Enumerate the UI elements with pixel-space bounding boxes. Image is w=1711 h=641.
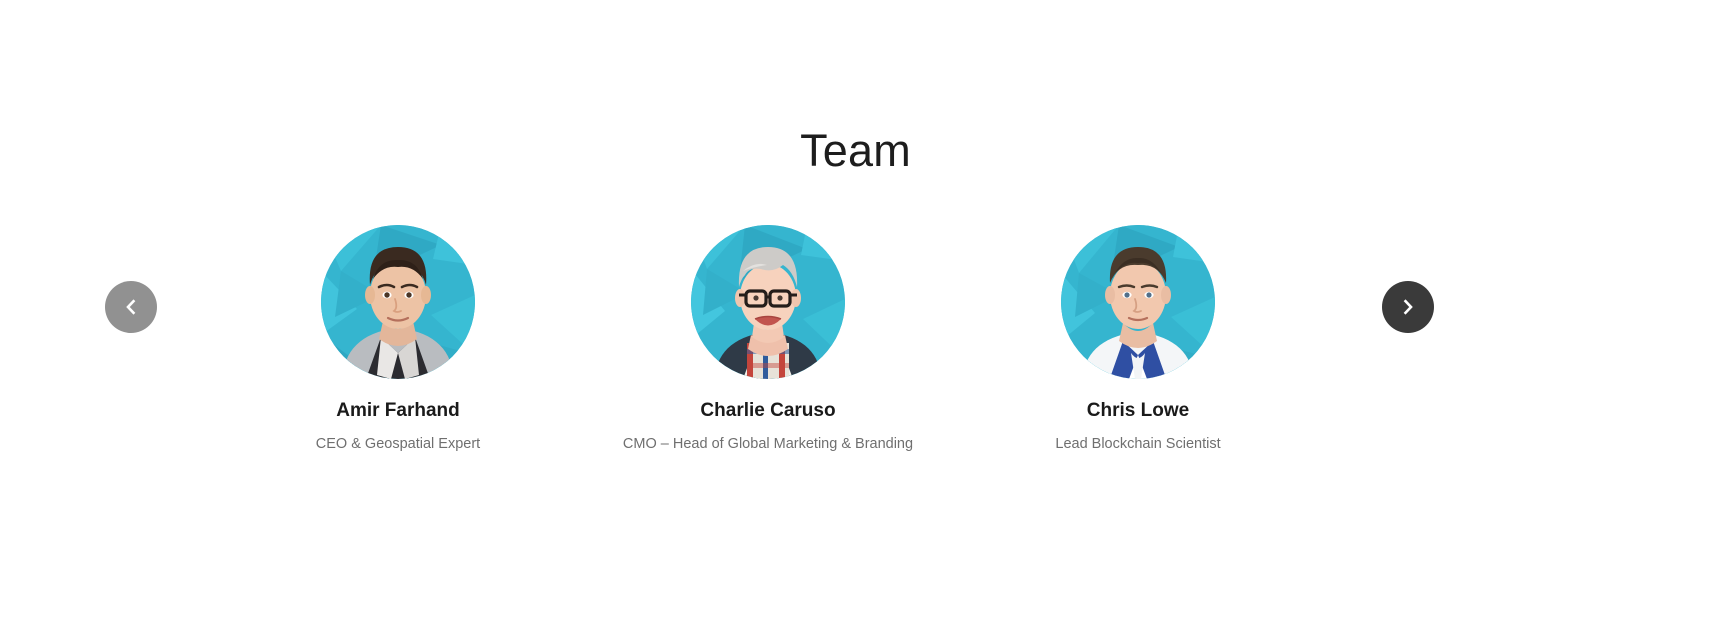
avatar (691, 225, 845, 379)
team-member-card[interactable]: Chris Lowe Lead Blockchain Scientist (953, 225, 1323, 454)
team-member-role: Lead Blockchain Scientist (1055, 435, 1220, 454)
chevron-left-icon (123, 299, 139, 315)
avatar (1061, 225, 1215, 379)
team-member-name: Chris Lowe (1087, 400, 1189, 423)
team-member-name: Charlie Caruso (700, 400, 835, 423)
chevron-right-icon (1400, 299, 1416, 315)
carousel-prev-button[interactable] (105, 281, 157, 333)
avatar (321, 225, 475, 379)
team-member-role: CMO – Head of Global Marketing & Brandin… (623, 435, 913, 454)
team-member-name: Amir Farhand (336, 400, 460, 423)
team-member-role: CEO & Geospatial Expert (316, 435, 480, 454)
team-member-card[interactable]: Charlie Caruso CMO – Head of Global Mark… (583, 225, 953, 454)
page-title: Team (0, 128, 1711, 173)
team-carousel: Amir Farhand CEO & Geospatial Expert (0, 225, 1711, 485)
team-member-card[interactable]: Amir Farhand CEO & Geospatial Expert (213, 225, 583, 454)
team-member-list: Amir Farhand CEO & Geospatial Expert (213, 225, 1323, 454)
carousel-next-button[interactable] (1382, 281, 1434, 333)
